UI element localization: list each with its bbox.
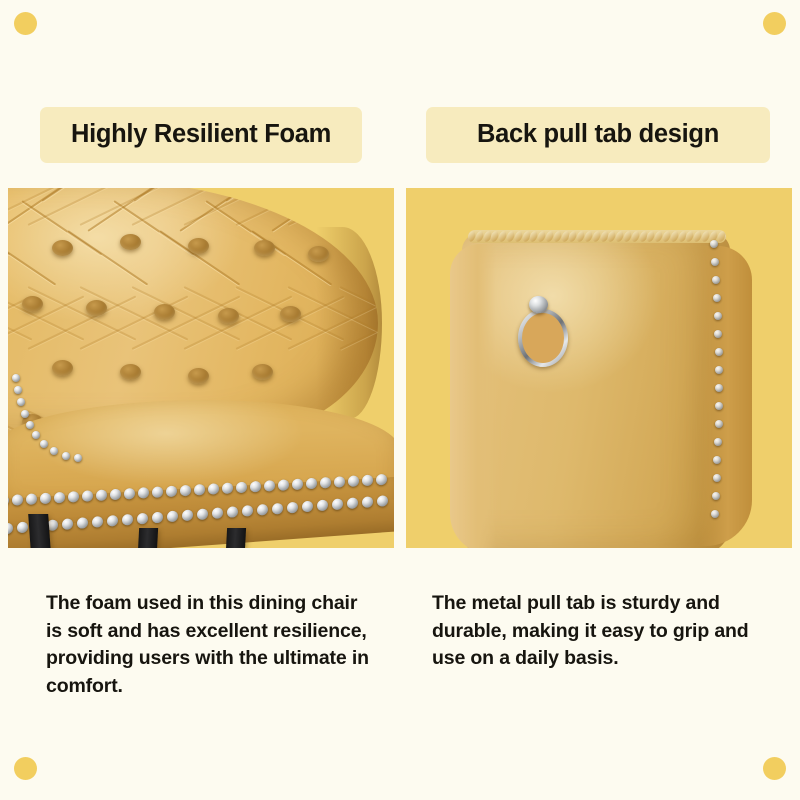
panel-heading-text: Back pull tab design — [477, 122, 719, 148]
chair-leg-center — [137, 528, 158, 548]
product-photo-foam — [8, 188, 394, 548]
feature-panel-foam: Highly Resilient Foam The foam used in t… — [8, 0, 394, 800]
panel-caption-pull-tab: The metal pull tab is sturdy and durable… — [432, 590, 762, 673]
panel-heading-pill-pull-tab: Back pull tab design — [426, 107, 770, 163]
ring-loop — [518, 309, 568, 367]
product-photo-pull-tab — [406, 188, 792, 548]
panel-caption-foam: The foam used in this dining chair is so… — [46, 590, 376, 701]
nailhead-trim-side — [706, 240, 728, 540]
chair-back-left-wing — [450, 244, 496, 548]
chair-leg-front-left — [28, 514, 52, 548]
whipstitch-braid-trim — [468, 230, 726, 243]
panel-heading-pill-foam: Highly Resilient Foam — [40, 107, 362, 163]
feature-panel-pull-tab: Back pull tab design The metal pull tab … — [406, 0, 792, 800]
panel-grid: Highly Resilient Foam The foam used in t… — [0, 0, 800, 800]
panel-heading-text: Highly Resilient Foam — [71, 122, 331, 148]
chair-leg-right — [225, 528, 246, 548]
ring-mount-knob — [529, 296, 548, 313]
chair-back-panel — [462, 230, 730, 548]
metal-pull-tab-ring — [511, 296, 567, 368]
infographic-page: Highly Resilient Foam The foam used in t… — [0, 0, 800, 800]
